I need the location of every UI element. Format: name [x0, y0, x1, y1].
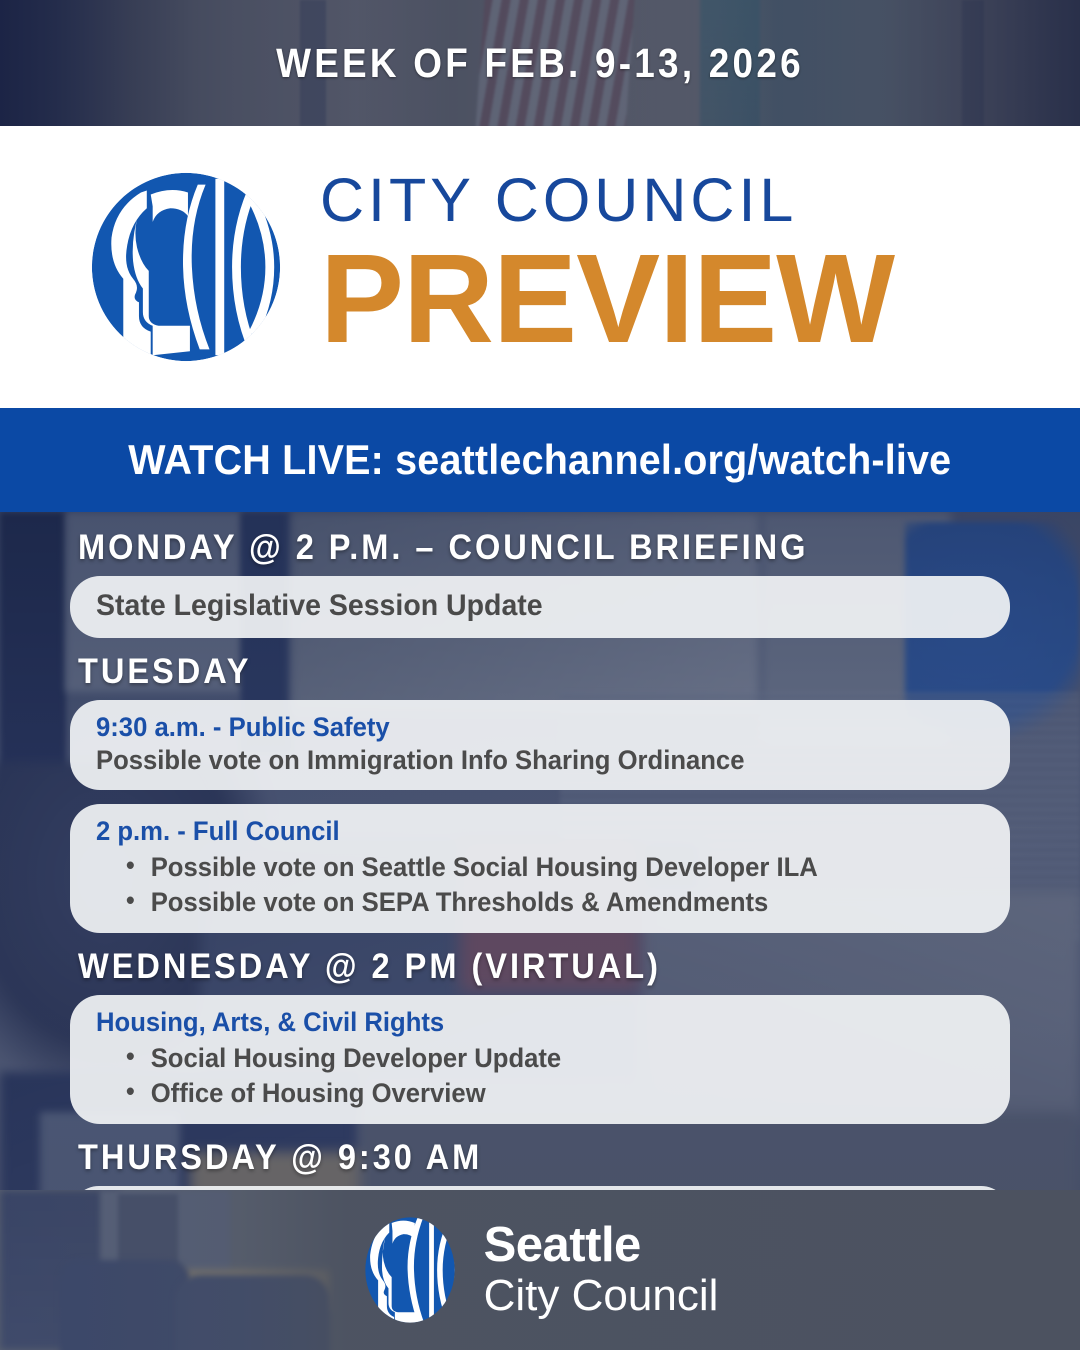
card-title: 9:30 a.m. - Public Safety [96, 712, 940, 744]
list-item: Office of Housing Overview [126, 1076, 941, 1111]
brand-line-1: CITY COUNCIL [320, 170, 894, 231]
header-banner: WEEK OF FEB. 9-13, 2026 [0, 0, 1080, 126]
schedule-card[interactable]: Housing, Arts, & Civil Rights Social Hou… [70, 995, 1010, 1124]
seattle-city-seal-icon [88, 169, 284, 365]
list-item: Social Housing Developer Update [126, 1041, 941, 1076]
footer-wordmark: Seattle City Council [484, 1221, 719, 1320]
card-subtitle: Possible vote on Immigration Info Sharin… [96, 744, 940, 776]
day-header-monday: MONDAY @ 2 P.M. – COUNCIL BRIEFING [78, 528, 945, 568]
card-bullet-list: Social Housing Developer Update Office o… [126, 1041, 984, 1110]
brand-line-2: PREVIEW [320, 235, 894, 364]
day-header-tuesday: TUESDAY [78, 652, 945, 692]
card-title: 2 p.m. - Full Council [96, 816, 940, 848]
card-title: State Legislative Session Update [96, 588, 940, 624]
week-label: WEEK OF FEB. 9-13, 2026 [54, 0, 1026, 126]
list-item: Possible vote on Seattle Social Housing … [126, 850, 941, 885]
footer-line-1: Seattle [484, 1221, 719, 1270]
schedule-card[interactable]: 2 p.m. - Full Council Possible vote on S… [70, 804, 1010, 933]
footer-line-2: City Council [484, 1272, 719, 1320]
watch-live-label: WATCH LIVE: seattlechannel.org/watch-liv… [128, 436, 951, 484]
day-header-wednesday: WEDNESDAY @ 2 PM (VIRTUAL) [78, 947, 945, 987]
schedule-card[interactable]: State Legislative Session Update [70, 576, 1010, 638]
day-header-thursday: THURSDAY @ 9:30 AM [78, 1138, 945, 1178]
footer: Seattle City Council [0, 1190, 1080, 1350]
seattle-city-council-logo-icon [362, 1215, 458, 1325]
watch-live-bar[interactable]: WATCH LIVE: seattlechannel.org/watch-liv… [0, 408, 1080, 512]
brand-band: CITY COUNCIL PREVIEW [0, 126, 1080, 408]
brand-wordmark: CITY COUNCIL PREVIEW [320, 170, 894, 364]
schedule-card[interactable]: 9:30 a.m. - Public Safety Possible vote … [70, 700, 1010, 790]
card-bullet-list: Possible vote on Seattle Social Housing … [126, 850, 984, 919]
card-title: Housing, Arts, & Civil Rights [96, 1007, 940, 1039]
poster: WEEK OF FEB. 9-13, 2026 [0, 0, 1080, 1350]
list-item: Possible vote on SEPA Thresholds & Amend… [126, 885, 941, 920]
